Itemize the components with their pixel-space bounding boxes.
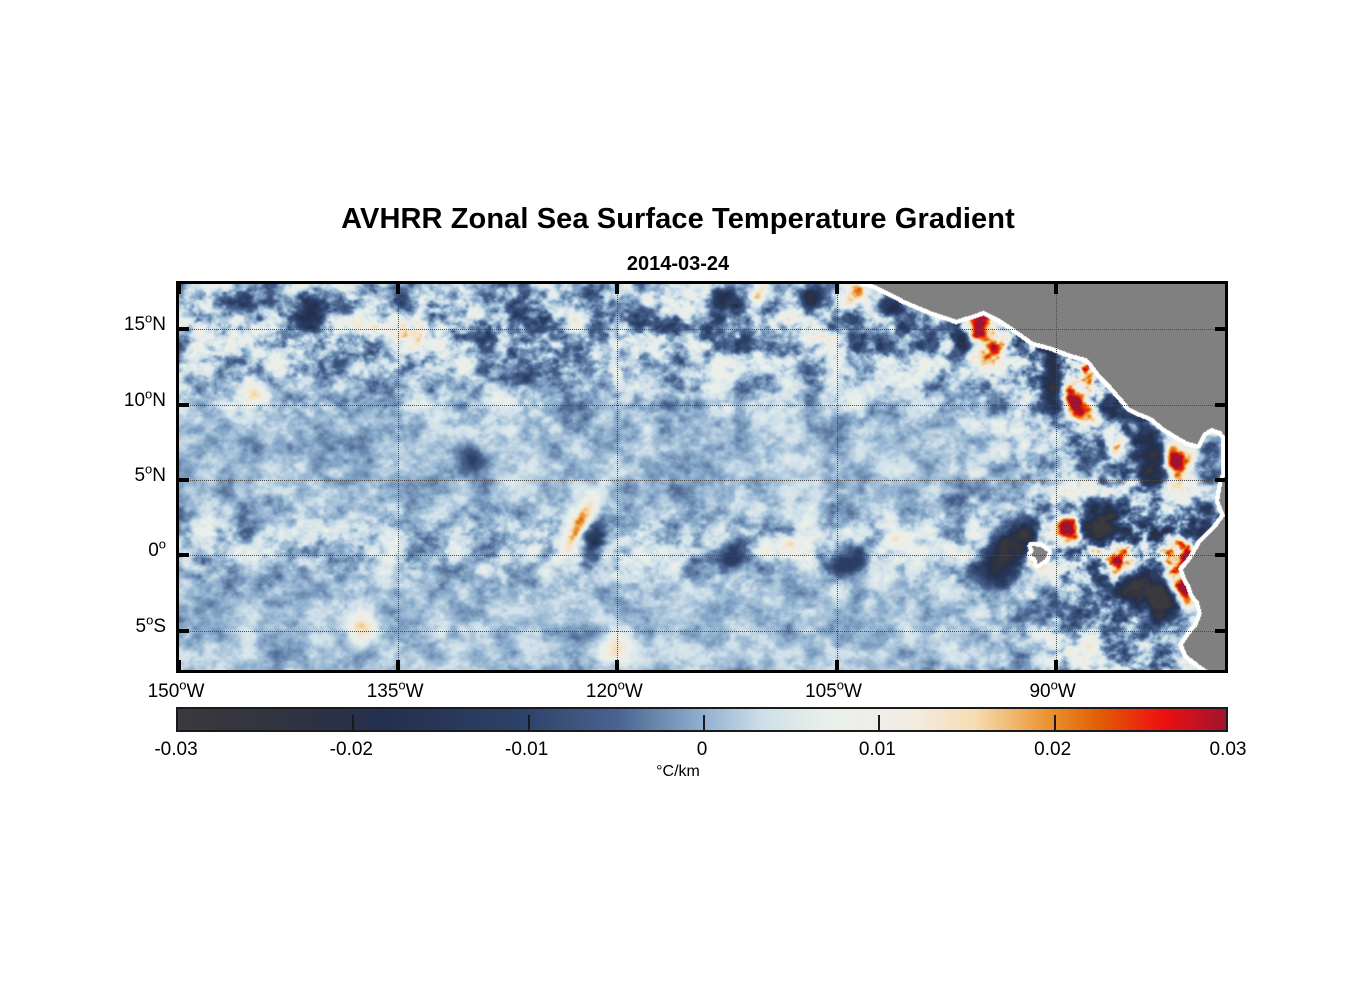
gridline-vertical — [1056, 284, 1057, 670]
colorbar-tick-label: 0.01 — [807, 739, 947, 761]
axis-tick-y — [178, 327, 189, 331]
axis-tick-x — [177, 660, 181, 671]
colorbar-tick-label: 0.02 — [983, 739, 1123, 761]
axis-tick-y — [1215, 478, 1226, 482]
axis-tick-x — [615, 283, 619, 294]
gridline-horizontal — [179, 480, 1225, 481]
axis-tick-y — [178, 553, 189, 557]
map-axes — [176, 281, 1228, 673]
x-axis-tick-label: 105oW — [774, 681, 894, 703]
axis-tick-y — [1215, 553, 1226, 557]
colorbar-tick-label: 0.03 — [1158, 739, 1298, 761]
axis-tick-y — [1215, 629, 1226, 633]
gridline-horizontal — [179, 405, 1225, 406]
colorbar-tick — [1054, 715, 1056, 730]
axis-tick-x — [396, 660, 400, 671]
axis-tick-x — [1054, 660, 1058, 671]
axis-tick-x — [835, 283, 839, 294]
y-axis-tick-label: 15oN — [104, 314, 166, 336]
axis-tick-x — [835, 660, 839, 671]
colorbar-tick-label: -0.03 — [106, 739, 246, 761]
axis-tick-y — [178, 403, 189, 407]
y-axis-tick-label: 0o — [104, 540, 166, 562]
colorbar-tick — [528, 715, 530, 730]
colorbar-gradient — [178, 709, 1226, 730]
gridline-horizontal — [179, 555, 1225, 556]
axis-tick-y — [1215, 403, 1226, 407]
colorbar-units-label: °C/km — [0, 763, 1356, 781]
axis-tick-y — [178, 629, 189, 633]
y-axis-tick-label: 10oN — [104, 390, 166, 412]
axis-tick-x — [177, 283, 181, 294]
axis-tick-y — [178, 478, 189, 482]
colorbar-tick — [352, 715, 354, 730]
colorbar-tick-label: -0.02 — [281, 739, 421, 761]
colorbar-tick — [703, 715, 705, 730]
sst-gradient-heatmap — [179, 284, 1225, 670]
colorbar-tick-label: -0.01 — [457, 739, 597, 761]
colorbar-tick — [878, 715, 880, 730]
x-axis-tick-label: 150oW — [116, 681, 236, 703]
gridline-vertical — [617, 284, 618, 670]
axis-tick-x — [396, 283, 400, 294]
chart-subtitle: 2014-03-24 — [0, 253, 1356, 276]
figure-canvas: AVHRR Zonal Sea Surface Temperature Grad… — [0, 0, 1356, 1000]
x-axis-tick-label: 90oW — [993, 681, 1113, 703]
y-axis-tick-label: 5oN — [104, 465, 166, 487]
axis-tick-y — [1215, 327, 1226, 331]
chart-title: AVHRR Zonal Sea Surface Temperature Grad… — [0, 203, 1356, 236]
gridline-vertical — [398, 284, 399, 670]
gridline-vertical — [837, 284, 838, 670]
colorbar — [176, 707, 1228, 732]
axis-tick-x — [1054, 283, 1058, 294]
colorbar-tick-label: 0 — [632, 739, 772, 761]
x-axis-tick-label: 135oW — [335, 681, 455, 703]
x-axis-tick-label: 120oW — [554, 681, 674, 703]
gridline-horizontal — [179, 329, 1225, 330]
axis-tick-x — [615, 660, 619, 671]
gridline-horizontal — [179, 631, 1225, 632]
y-axis-tick-label: 5oS — [104, 616, 166, 638]
